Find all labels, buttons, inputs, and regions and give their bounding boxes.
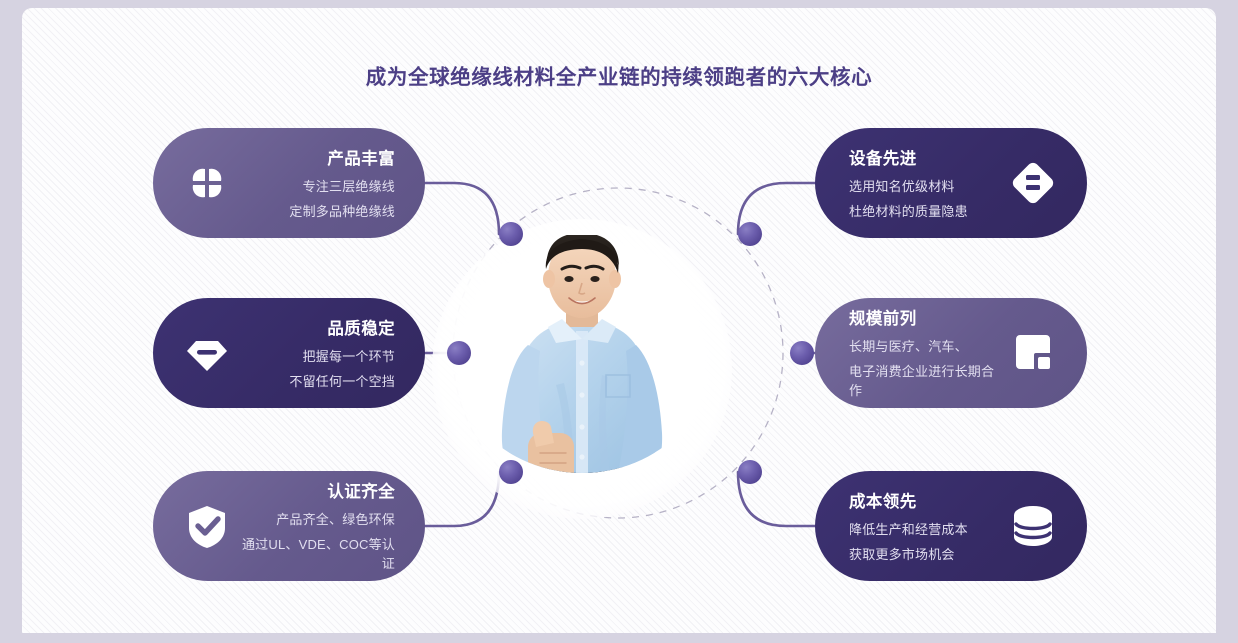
card-text-equipment-advanced: 设备先进 选用知名优级材料 杜绝材料的质量隐患 [849,128,1003,238]
diamond-bars-icon [1007,157,1059,209]
card-line-1: 长期与医疗、汽车、 [849,338,968,357]
card-line-2: 电子消费企业进行长期合作 [849,363,1003,401]
card-line-2: 通过UL、VDE、COC等认证 [235,536,395,574]
card-line-1: 产品齐全、绿色环保 [276,511,395,530]
gem-minus-icon [181,327,233,379]
card-text-quality-stable: 品质稳定 把握每一个环节 不留任何一个空挡 [235,298,395,408]
card-heading: 产品丰富 [327,145,395,169]
blocks-icon [1007,327,1059,379]
card-heading: 品质稳定 [327,315,395,339]
card-line-2: 定制多品种绝缘线 [289,203,395,222]
card-line-1: 专注三层绝缘线 [303,178,395,197]
connector-dot-product-rich [499,222,523,246]
card-text-certification-complete: 认证齐全 产品齐全、绿色环保 通过UL、VDE、COC等认证 [235,471,395,581]
card-cost-leading[interactable]: 成本领先 降低生产和经营成本 获取更多市场机会 [815,471,1087,581]
center-portrait: 微笑的男士竖起大拇指 [456,235,708,503]
card-heading: 规模前列 [849,305,917,329]
card-line-1: 把握每一个环节 [303,348,395,367]
card-line-1: 降低生产和经营成本 [849,521,968,540]
card-product-rich[interactable]: 产品丰富 专注三层绝缘线 定制多品种绝缘线 [153,128,425,238]
shield-check-icon [181,500,233,552]
connector-dot-cost-leading [738,460,762,484]
card-certification-complete[interactable]: 认证齐全 产品齐全、绿色环保 通过UL、VDE、COC等认证 [153,471,425,581]
card-scale-leading[interactable]: 规模前列 长期与医疗、汽车、 电子消费企业进行长期合作 [815,298,1087,408]
center-hub: 微笑的男士竖起大拇指 [396,183,768,555]
card-heading: 设备先进 [849,145,917,169]
infographic-canvas: 成为全球绝缘线材料全产业链的持续领跑者的六大核心 微笑的男士竖起大拇指 [0,0,1238,643]
clover-icon [181,157,233,209]
content-panel: 成为全球绝缘线材料全产业链的持续领跑者的六大核心 微笑的男士竖起大拇指 [22,8,1216,633]
connector-dot-quality-stable [447,341,471,365]
database-icon [1007,500,1059,552]
card-equipment-advanced[interactable]: 设备先进 选用知名优级材料 杜绝材料的质量隐患 [815,128,1087,238]
card-line-2: 杜绝材料的质量隐患 [849,203,968,222]
connector-dot-certification-complete [499,460,523,484]
connector-dot-equipment-advanced [738,222,762,246]
card-line-1: 选用知名优级材料 [849,178,955,197]
card-text-cost-leading: 成本领先 降低生产和经营成本 获取更多市场机会 [849,471,1003,581]
card-heading: 成本领先 [849,488,917,512]
card-quality-stable[interactable]: 品质稳定 把握每一个环节 不留任何一个空挡 [153,298,425,408]
connector-dot-scale-leading [790,341,814,365]
card-text-product-rich: 产品丰富 专注三层绝缘线 定制多品种绝缘线 [235,128,395,238]
card-text-scale-leading: 规模前列 长期与医疗、汽车、 电子消费企业进行长期合作 [849,298,1003,408]
card-heading: 认证齐全 [327,478,395,502]
card-line-2: 不留任何一个空挡 [289,373,395,392]
card-line-2: 获取更多市场机会 [849,546,955,565]
